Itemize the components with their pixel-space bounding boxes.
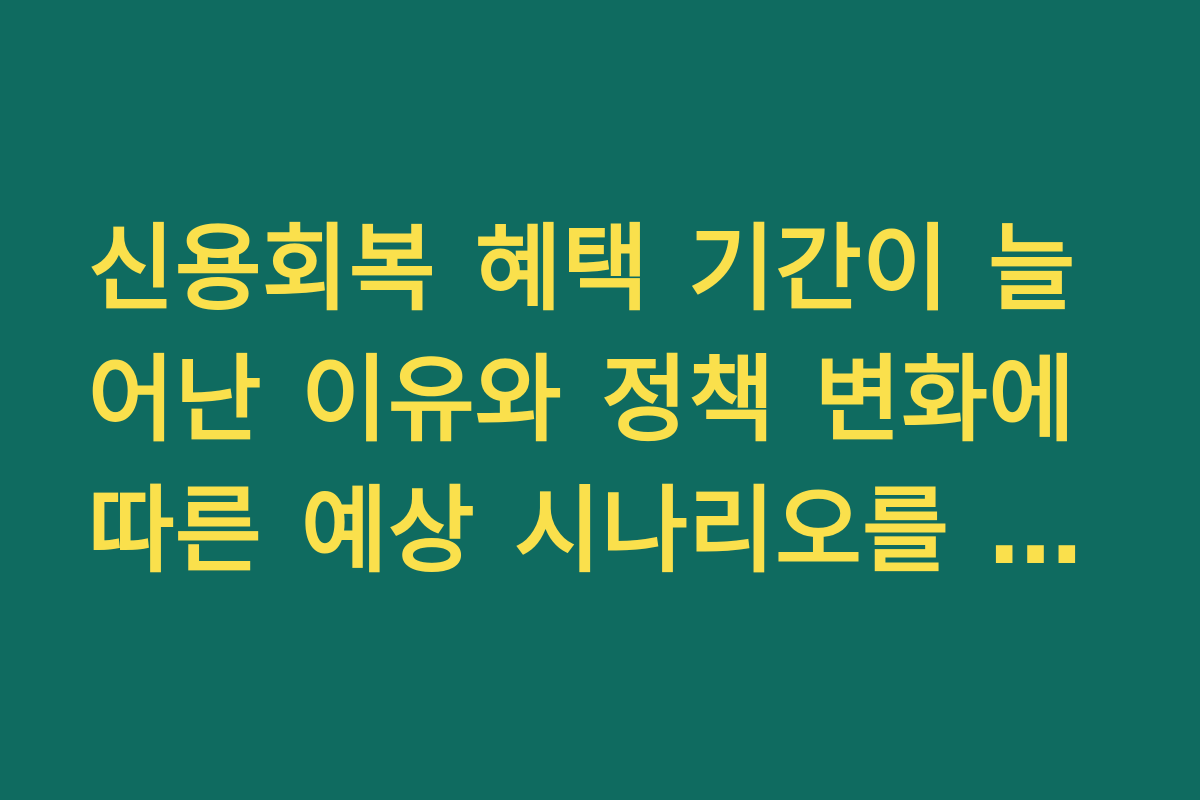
headline: 신용회복 혜택 기간이 늘 어난 이유와 정책 변화에 따른 예상 시나리오를 … [88,204,1083,597]
headline-line-1: 신용회복 혜택 기간이 늘 [88,204,1083,335]
headline-line-3: 따른 예상 시나리오를 … [88,466,1083,597]
text-card: 신용회복 혜택 기간이 늘 어난 이유와 정책 변화에 따른 예상 시나리오를 … [0,0,1200,800]
headline-line-2: 어난 이유와 정책 변화에 [88,335,1083,466]
